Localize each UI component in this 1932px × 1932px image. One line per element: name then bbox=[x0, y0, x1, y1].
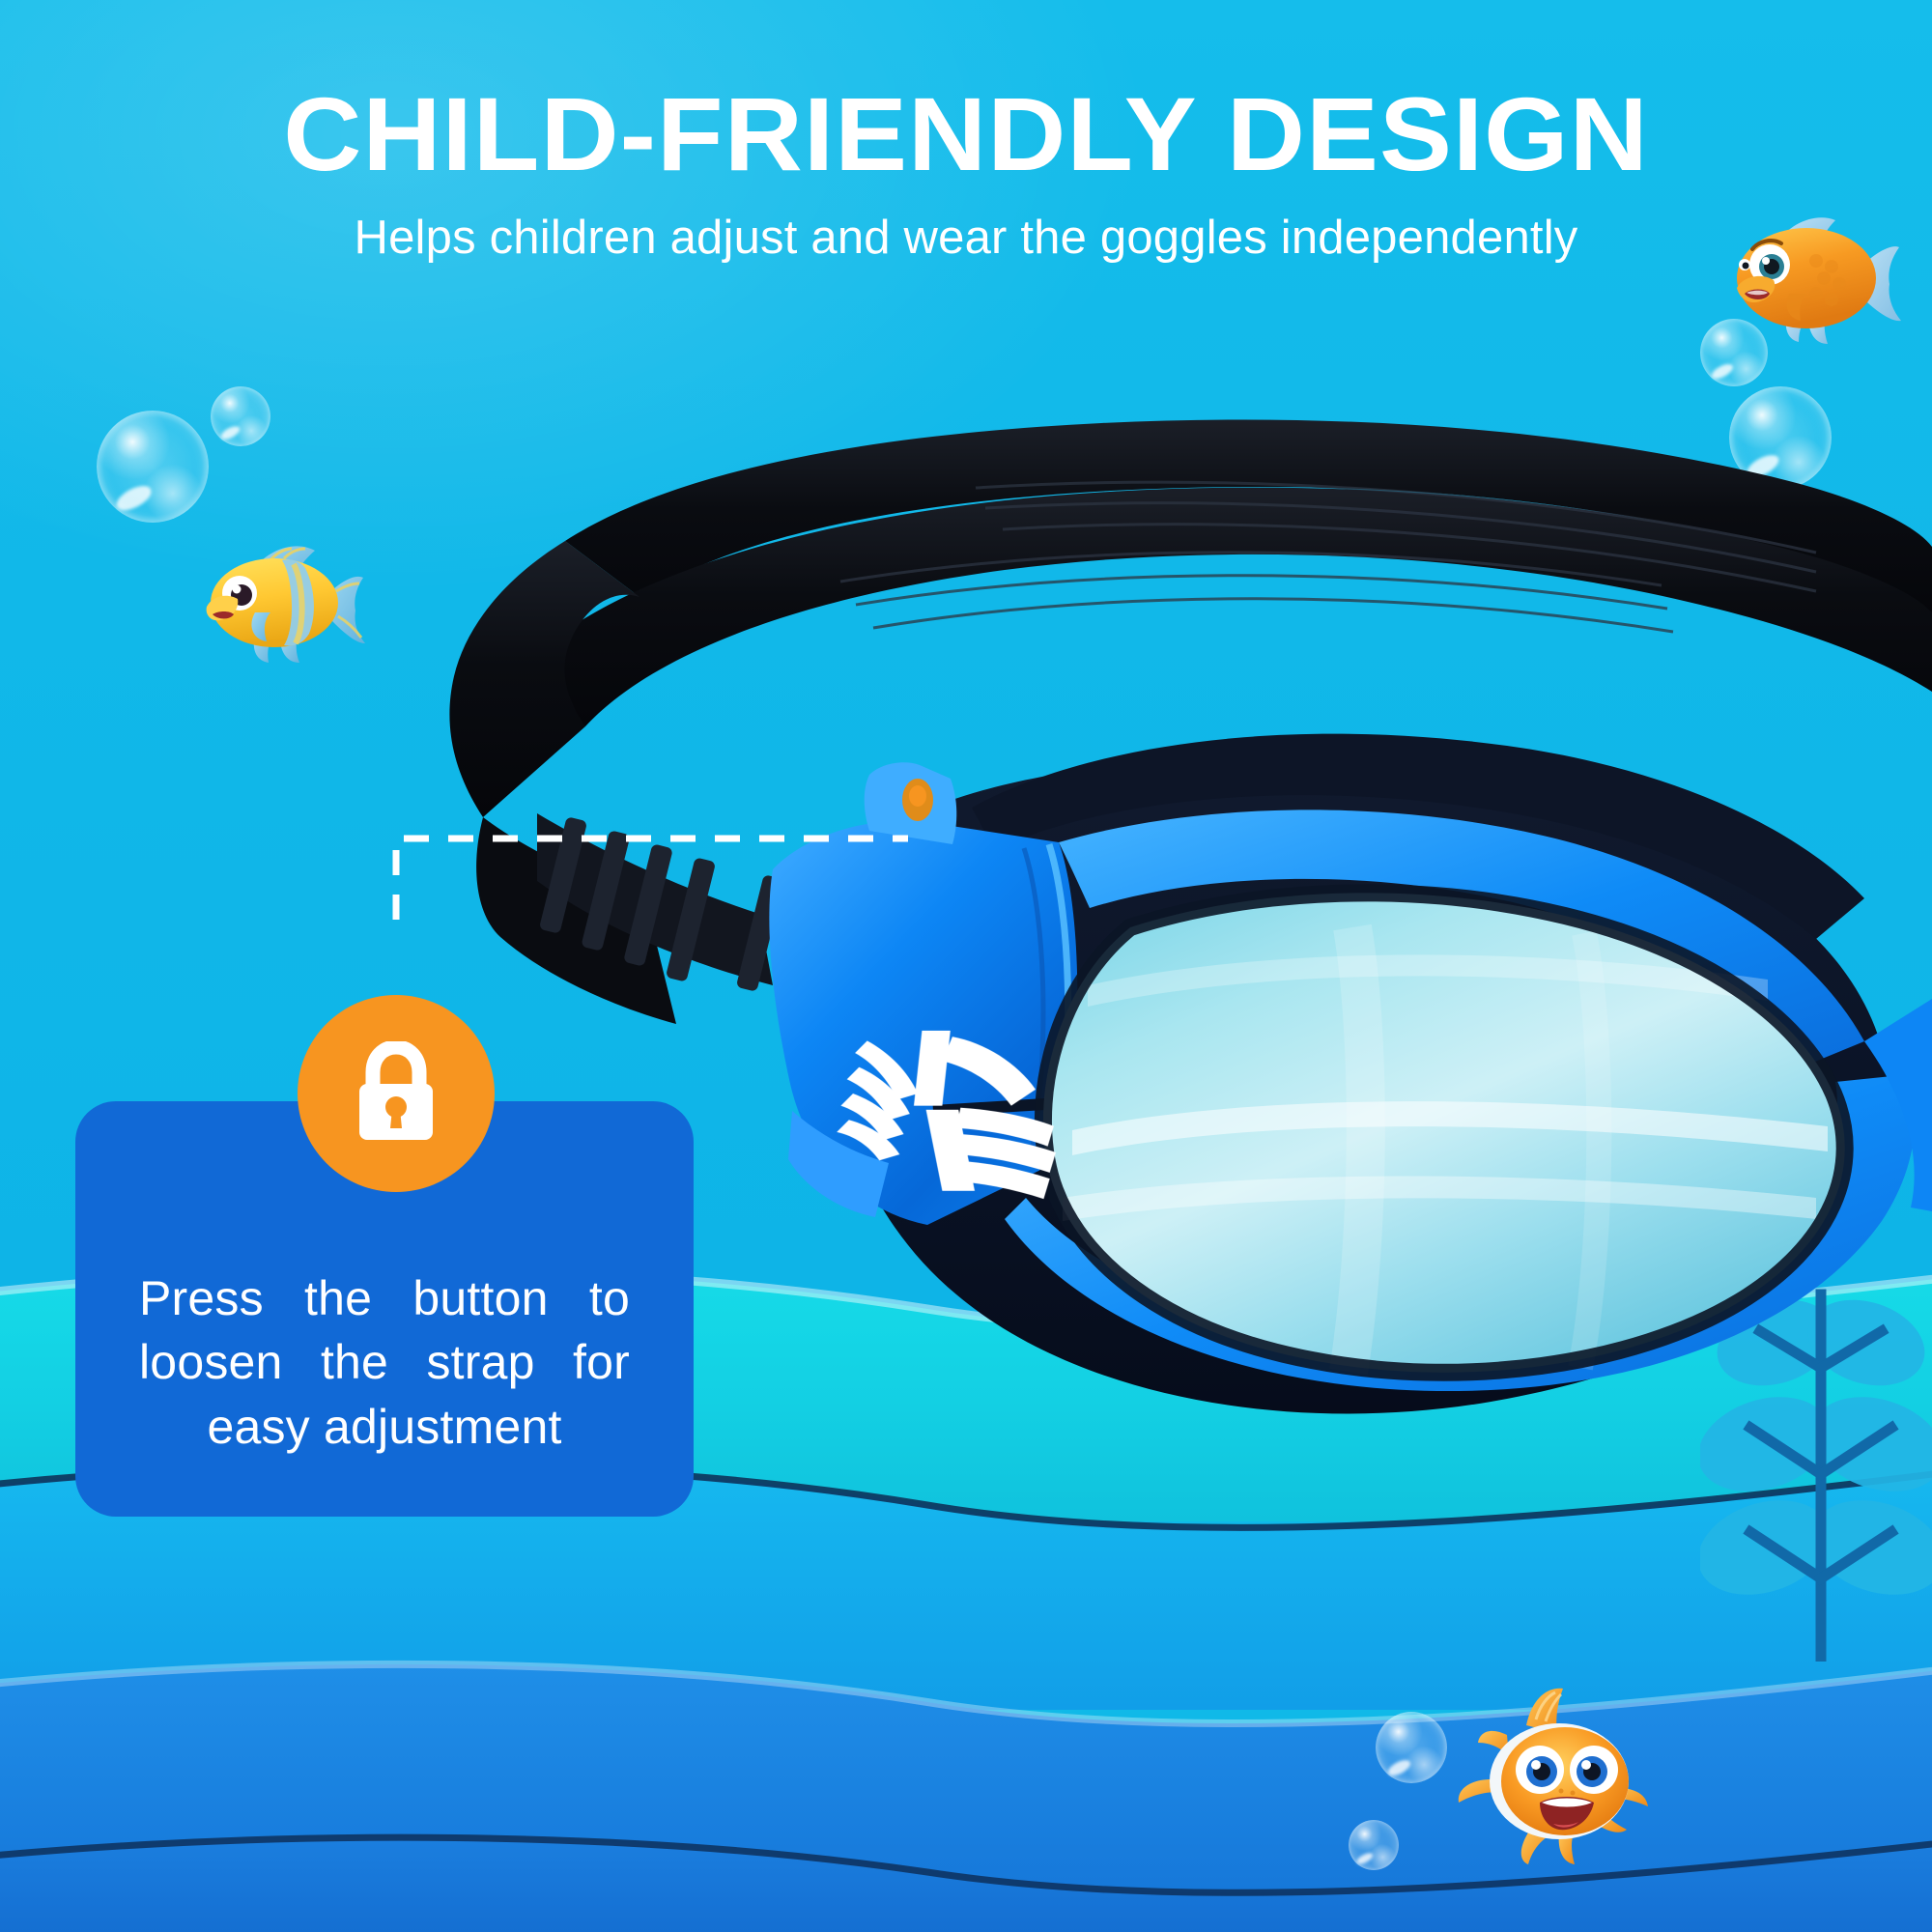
callout-text: Press the button to loosen the strap for… bbox=[75, 1266, 694, 1518]
yellow-fish-left-icon bbox=[201, 537, 380, 668]
lock-icon bbox=[350, 1041, 442, 1146]
orange-fish-bottom-icon bbox=[1445, 1685, 1677, 1866]
page-subtitle: Helps children adjust and wear the goggl… bbox=[0, 211, 1932, 265]
swimming-goggles-product-image bbox=[0, 0, 1932, 1932]
lock-badge bbox=[298, 995, 495, 1192]
product-feature-banner: Press the button to loosen the strap for… bbox=[0, 0, 1932, 1932]
page-title: CHILD-FRIENDLY DESIGN bbox=[0, 73, 1932, 194]
